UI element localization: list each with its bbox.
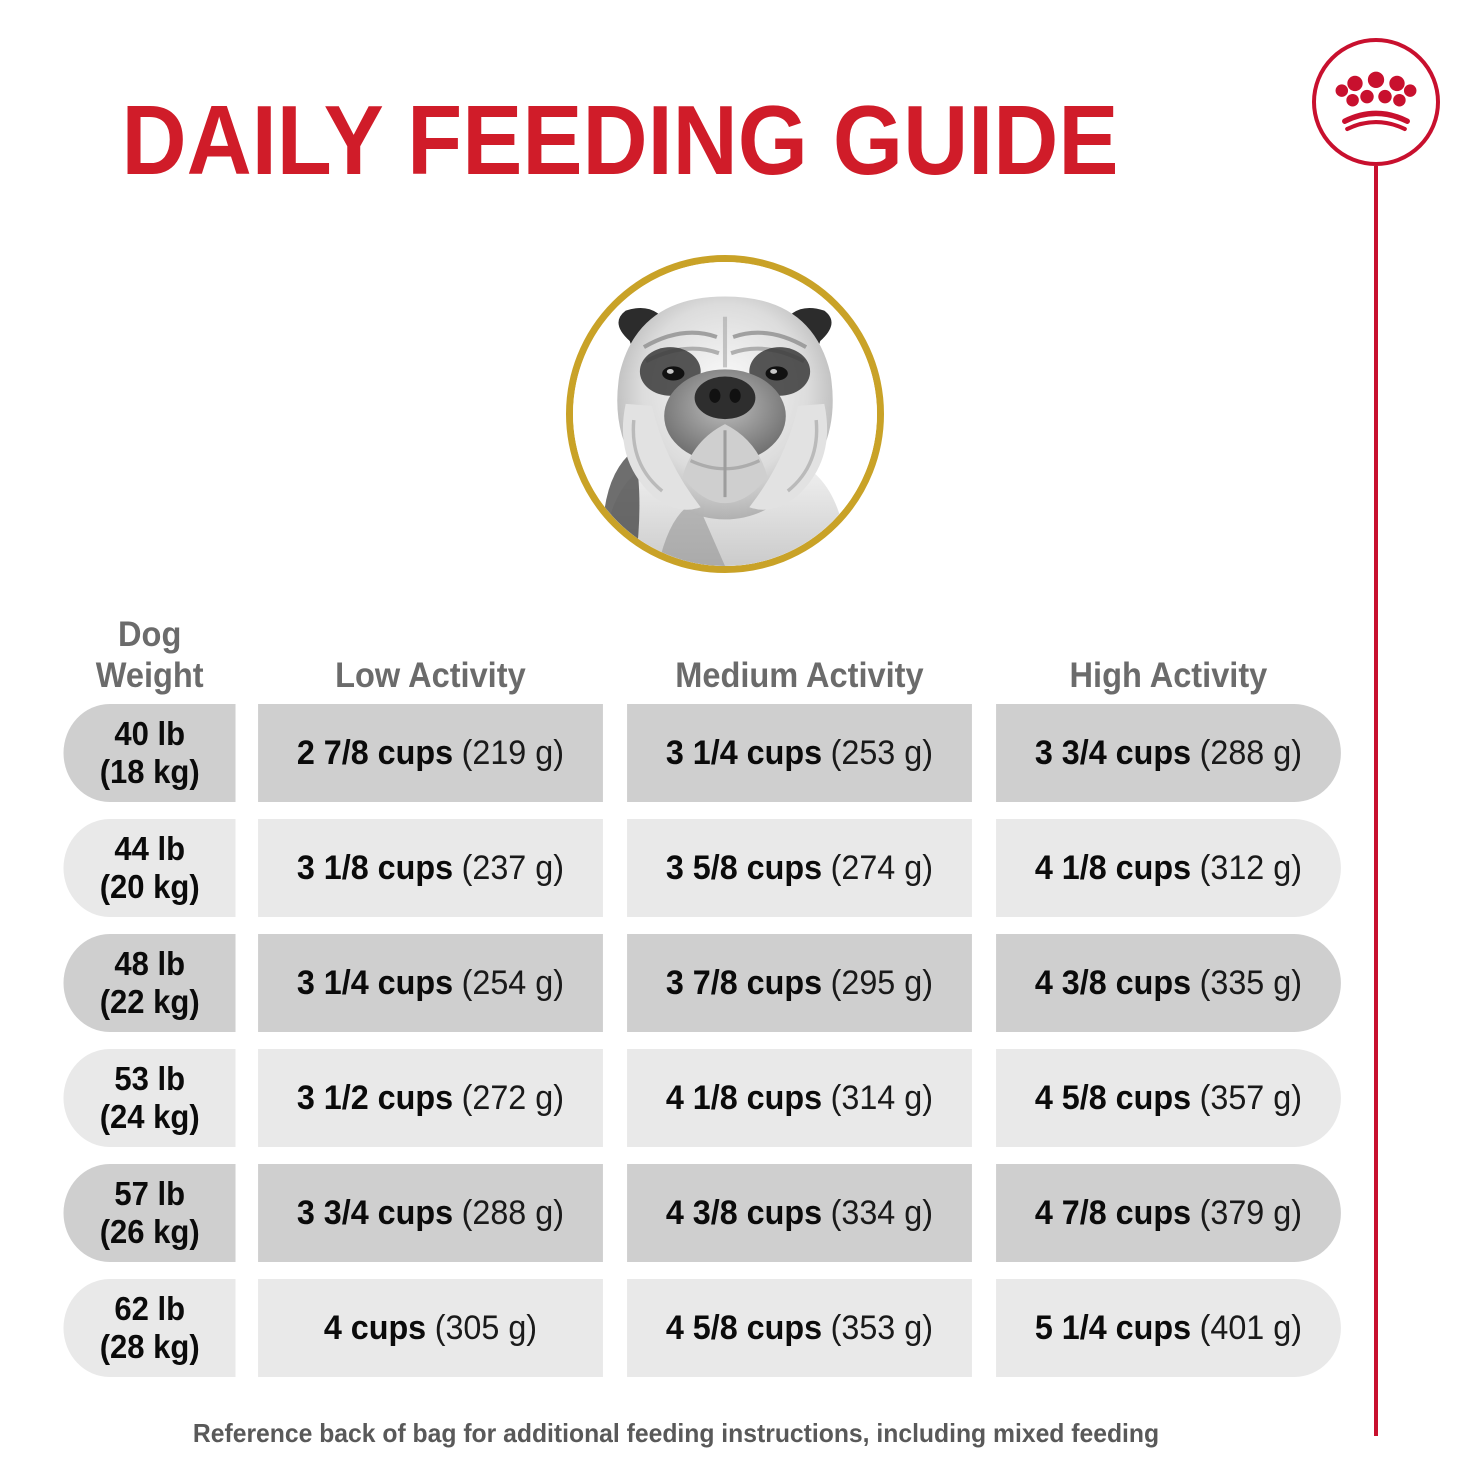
weight-kg: (28 kg)	[100, 1328, 200, 1366]
medium-grams: (295 g)	[831, 963, 933, 1003]
cell-medium-activity: 3 1/4 cups(253 g)	[627, 704, 972, 802]
low-cups: 3 1/2 cups	[297, 1078, 453, 1118]
medium-cups: 4 3/8 cups	[666, 1193, 822, 1233]
cell-dog-weight: 40 lb (18 kg)	[64, 704, 236, 802]
high-cups: 4 3/8 cups	[1035, 963, 1191, 1003]
logo-stem-line	[1374, 166, 1378, 1436]
cell-dog-weight: 44 lb (20 kg)	[64, 819, 236, 917]
high-cups: 5 1/4 cups	[1035, 1308, 1191, 1348]
medium-cups: 4 1/8 cups	[666, 1078, 822, 1118]
low-grams: (272 g)	[462, 1078, 564, 1118]
column-header-dog-weight-line1: Dog	[64, 614, 235, 655]
table-row: 40 lb (18 kg) 2 7/8 cups(219 g) 3 1/4 cu…	[58, 704, 1350, 802]
low-cups: 3 1/8 cups	[297, 848, 453, 888]
weight-kg: (20 kg)	[100, 868, 200, 906]
table-row: 53 lb (24 kg) 3 1/2 cups(272 g) 4 1/8 cu…	[58, 1049, 1350, 1147]
cell-high-activity: 4 5/8 cups(357 g)	[996, 1049, 1341, 1147]
cell-high-activity: 5 1/4 cups(401 g)	[996, 1279, 1341, 1377]
table-header-row: Dog Weight Low Activity Medium Activity …	[58, 586, 1350, 704]
cell-dog-weight: 62 lb (28 kg)	[64, 1279, 236, 1377]
cell-dog-weight: 53 lb (24 kg)	[64, 1049, 236, 1147]
column-header-low-activity: Low Activity	[262, 655, 599, 704]
cell-medium-activity: 4 5/8 cups(353 g)	[627, 1279, 972, 1377]
low-grams: (288 g)	[462, 1193, 564, 1233]
high-cups: 4 5/8 cups	[1035, 1078, 1191, 1118]
cell-low-activity: 3 3/4 cups(288 g)	[258, 1164, 603, 1262]
high-grams: (379 g)	[1200, 1193, 1302, 1233]
bulldog-portrait	[566, 255, 884, 573]
cell-high-activity: 4 7/8 cups(379 g)	[996, 1164, 1341, 1262]
cell-high-activity: 4 3/8 cups(335 g)	[996, 934, 1341, 1032]
low-cups: 3 1/4 cups	[297, 963, 453, 1003]
cell-low-activity: 3 1/4 cups(254 g)	[258, 934, 603, 1032]
weight-lb: 53 lb	[114, 1060, 185, 1098]
cell-medium-activity: 3 5/8 cups(274 g)	[627, 819, 972, 917]
table-row: 57 lb (26 kg) 3 3/4 cups(288 g) 4 3/8 cu…	[58, 1164, 1350, 1262]
high-cups: 3 3/4 cups	[1035, 733, 1191, 773]
cell-high-activity: 3 3/4 cups(288 g)	[996, 704, 1341, 802]
cell-high-activity: 4 1/8 cups(312 g)	[996, 819, 1341, 917]
feeding-table: Dog Weight Low Activity Medium Activity …	[58, 586, 1350, 1394]
table-row: 44 lb (20 kg) 3 1/8 cups(237 g) 3 5/8 cu…	[58, 819, 1350, 917]
weight-lb: 40 lb	[114, 715, 185, 753]
royal-canin-crown-logo	[1312, 38, 1440, 166]
weight-lb: 62 lb	[114, 1290, 185, 1328]
high-grams: (357 g)	[1200, 1078, 1302, 1118]
high-cups: 4 7/8 cups	[1035, 1193, 1191, 1233]
cell-low-activity: 4 cups(305 g)	[258, 1279, 603, 1377]
medium-grams: (274 g)	[831, 848, 933, 888]
high-grams: (401 g)	[1200, 1308, 1302, 1348]
footnote-text: Reference back of bag for additional fee…	[34, 1418, 1318, 1449]
cell-low-activity: 3 1/2 cups(272 g)	[258, 1049, 603, 1147]
medium-grams: (314 g)	[831, 1078, 933, 1118]
column-header-dog-weight: Dog Weight	[64, 614, 235, 704]
table-row: 48 lb (22 kg) 3 1/4 cups(254 g) 3 7/8 cu…	[58, 934, 1350, 1032]
low-cups: 3 3/4 cups	[297, 1193, 453, 1233]
medium-cups: 3 5/8 cups	[666, 848, 822, 888]
column-header-medium-activity: Medium Activity	[631, 655, 968, 704]
table-row: 62 lb (28 kg) 4 cups(305 g) 4 5/8 cups(3…	[58, 1279, 1350, 1377]
low-grams: (254 g)	[462, 963, 564, 1003]
high-grams: (335 g)	[1200, 963, 1302, 1003]
high-grams: (288 g)	[1200, 733, 1302, 773]
cell-low-activity: 2 7/8 cups(219 g)	[258, 704, 603, 802]
feeding-guide-page: DAILY FEEDING GUIDE	[0, 0, 1460, 1460]
weight-lb: 57 lb	[114, 1175, 185, 1213]
medium-cups: 3 1/4 cups	[666, 733, 822, 773]
medium-grams: (253 g)	[831, 733, 933, 773]
medium-grams: (334 g)	[831, 1193, 933, 1233]
cell-low-activity: 3 1/8 cups(237 g)	[258, 819, 603, 917]
medium-grams: (353 g)	[831, 1308, 933, 1348]
low-grams: (237 g)	[462, 848, 564, 888]
weight-kg: (22 kg)	[100, 983, 200, 1021]
high-grams: (312 g)	[1200, 848, 1302, 888]
medium-cups: 3 7/8 cups	[666, 963, 822, 1003]
low-grams: (305 g)	[435, 1308, 537, 1348]
low-cups: 2 7/8 cups	[297, 733, 453, 773]
weight-kg: (24 kg)	[100, 1098, 200, 1136]
cell-medium-activity: 4 1/8 cups(314 g)	[627, 1049, 972, 1147]
column-header-dog-weight-line2: Weight	[64, 655, 235, 696]
weight-kg: (18 kg)	[100, 753, 200, 791]
column-header-high-activity: High Activity	[1000, 655, 1337, 704]
page-title: DAILY FEEDING GUIDE	[50, 88, 1191, 192]
weight-lb: 44 lb	[114, 830, 185, 868]
cell-dog-weight: 48 lb (22 kg)	[64, 934, 236, 1032]
weight-lb: 48 lb	[114, 945, 185, 983]
weight-kg: (26 kg)	[100, 1213, 200, 1251]
medium-cups: 4 5/8 cups	[666, 1308, 822, 1348]
low-grams: (219 g)	[462, 733, 564, 773]
cell-medium-activity: 3 7/8 cups(295 g)	[627, 934, 972, 1032]
low-cups: 4 cups	[324, 1308, 426, 1348]
cell-medium-activity: 4 3/8 cups(334 g)	[627, 1164, 972, 1262]
high-cups: 4 1/8 cups	[1035, 848, 1191, 888]
cell-dog-weight: 57 lb (26 kg)	[64, 1164, 236, 1262]
